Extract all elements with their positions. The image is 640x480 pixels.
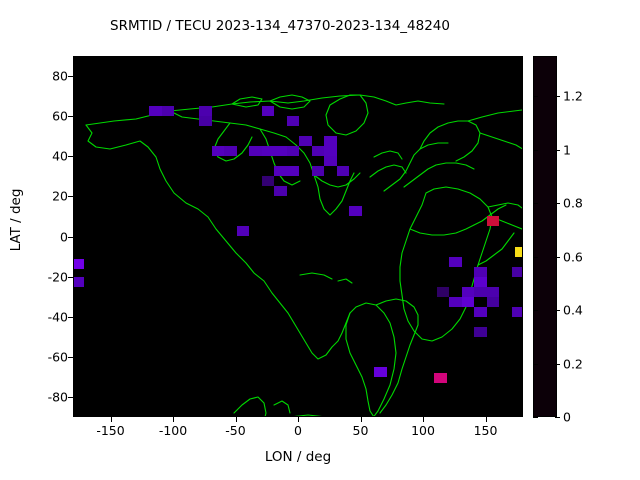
colorbar-tick-mark <box>533 310 538 311</box>
x-axis-ticks: -150-100-50050100150 <box>73 423 523 443</box>
heatmap-cell <box>324 136 337 146</box>
heatmap-cell <box>299 136 312 146</box>
heatmap-cell <box>287 166 300 176</box>
heatmap-cell <box>199 116 212 126</box>
heatmap-cell <box>474 287 487 297</box>
x-tick-mark <box>298 417 299 422</box>
colorbar-tick-mark <box>555 364 560 365</box>
heatmap-cell <box>262 106 275 116</box>
x-axis-label: LON / deg <box>73 449 523 465</box>
heatmap-cell <box>449 297 462 307</box>
y-tick-label: -40 <box>8 309 68 324</box>
colorbar-tick-mark <box>533 417 538 418</box>
heatmap-cell <box>262 176 275 186</box>
colorbar-tick-label: 0.2 <box>563 356 583 371</box>
heatmap-cell <box>287 116 300 126</box>
heatmap-cell <box>287 146 300 156</box>
y-tick-label: -60 <box>8 349 68 364</box>
map-plot-area <box>73 56 523 417</box>
heatmap-cell <box>237 226 250 236</box>
heatmap-cell <box>374 367 387 377</box>
colorbar-tick-label: 0 <box>563 410 571 425</box>
heatmap-cell <box>274 166 287 176</box>
y-tick-mark <box>68 237 73 238</box>
heatmap-cell <box>437 287 450 297</box>
colorbar-gradient <box>534 57 556 416</box>
colorbar-ticks: 00.20.40.60.811.2 <box>560 56 620 417</box>
colorbar-tick-mark <box>555 257 560 258</box>
heatmap-cell <box>337 166 350 176</box>
x-tick-mark <box>423 417 424 422</box>
heatmap-cell <box>312 166 325 176</box>
x-tick-label: -150 <box>76 423 146 438</box>
x-tick-mark <box>236 417 237 422</box>
colorbar-tick-label: 0.8 <box>563 196 583 211</box>
colorbar-tick-mark <box>533 257 538 258</box>
heatmap-cells <box>74 57 523 417</box>
figure-canvas: SRMTID / TECU 2023-134_47370-2023-134_48… <box>0 0 640 480</box>
heatmap-cell <box>262 146 275 156</box>
colorbar-tick-mark <box>555 310 560 311</box>
heatmap-cell <box>312 146 325 156</box>
colorbar-tick-mark <box>533 203 538 204</box>
colorbar-tick-label: 1 <box>563 142 571 157</box>
colorbar-tick-mark <box>533 364 538 365</box>
y-axis-label: LAT / deg <box>8 160 24 280</box>
colorbar-tick-mark <box>533 150 538 151</box>
heatmap-cell <box>274 186 287 196</box>
heatmap-cell <box>512 267 524 277</box>
x-tick-label: -100 <box>138 423 208 438</box>
x-tick-mark <box>361 417 362 422</box>
heatmap-cell <box>474 307 487 317</box>
y-tick-mark <box>68 397 73 398</box>
y-tick-mark <box>68 156 73 157</box>
heatmap-cell <box>462 287 475 297</box>
colorbar-tick-label: 1.2 <box>563 89 583 104</box>
x-tick-mark <box>173 417 174 422</box>
y-tick-label: 80 <box>8 69 68 84</box>
x-tick-label: 0 <box>263 423 333 438</box>
heatmap-cell <box>74 259 84 269</box>
x-tick-label: 100 <box>388 423 458 438</box>
heatmap-cell <box>349 206 362 216</box>
heatmap-cell <box>199 106 212 116</box>
heatmap-cell <box>434 373 447 383</box>
x-tick-label: 150 <box>451 423 521 438</box>
heatmap-cell <box>274 146 287 156</box>
y-tick-mark <box>68 196 73 197</box>
heatmap-cell <box>212 146 225 156</box>
chart-title: SRMTID / TECU 2023-134_47370-2023-134_48… <box>0 18 560 34</box>
y-tick-mark <box>68 357 73 358</box>
heatmap-cell <box>487 287 500 297</box>
colorbar-tick-mark <box>555 96 560 97</box>
y-tick-mark <box>68 317 73 318</box>
colorbar-tick-label: 0.4 <box>563 303 583 318</box>
heatmap-cell <box>449 257 462 267</box>
y-tick-mark <box>68 116 73 117</box>
heatmap-cell <box>462 297 475 307</box>
heatmap-cell <box>474 267 487 277</box>
colorbar-tick-label: 0.6 <box>563 249 583 264</box>
heatmap-cell <box>149 106 162 116</box>
x-tick-label: -50 <box>201 423 271 438</box>
x-tick-mark <box>486 417 487 422</box>
heatmap-cell <box>474 277 487 287</box>
heatmap-cell <box>487 297 500 307</box>
y-tick-mark <box>68 277 73 278</box>
y-tick-label: -80 <box>8 389 68 404</box>
colorbar-tick-mark <box>555 150 560 151</box>
heatmap-cell <box>249 146 262 156</box>
colorbar-tick-mark <box>533 96 538 97</box>
colorbar-tick-mark <box>555 203 560 204</box>
heatmap-cell <box>515 247 523 257</box>
heatmap-cell <box>512 307 524 317</box>
colorbar-tick-mark <box>555 417 560 418</box>
heatmap-cell <box>224 146 237 156</box>
y-tick-label: 60 <box>8 109 68 124</box>
heatmap-cell <box>474 327 487 337</box>
x-tick-label: 50 <box>326 423 396 438</box>
heatmap-cell <box>162 106 175 116</box>
heatmap-cell <box>487 216 500 226</box>
heatmap-cell <box>324 146 337 156</box>
heatmap-cell <box>324 156 337 166</box>
y-tick-mark <box>68 76 73 77</box>
x-tick-mark <box>111 417 112 422</box>
heatmap-cell <box>74 277 84 287</box>
